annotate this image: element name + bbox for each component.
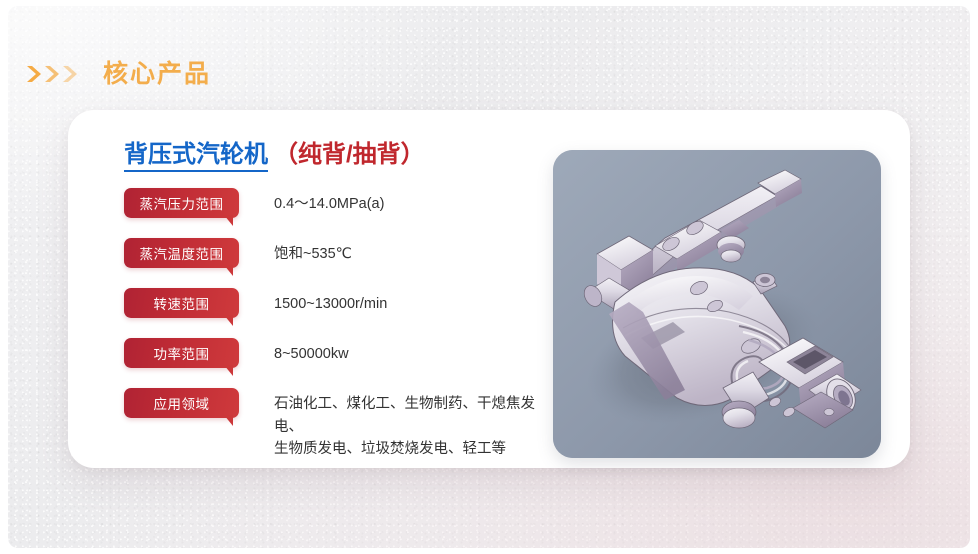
product-card: 背压式汽轮机（纯背/抽背） 蒸汽压力范围 0.4～14.0MPa(a) 蒸汽温度… (68, 110, 910, 468)
spec-value: 1500~13000r/min (274, 288, 387, 315)
section-header: 核心产品 (20, 52, 211, 96)
spec-value: 石油化工、煤化工、生物制药、干熄焦发电、 生物质发电、垃圾焚烧发电、轻工等 (274, 388, 554, 460)
spec-label: 蒸汽温度范围 (124, 238, 239, 268)
spec-label: 转速范围 (124, 288, 239, 318)
product-image-panel (553, 150, 881, 458)
spec-row: 蒸汽温度范围 饱和~535℃ (124, 238, 554, 288)
double-chevron-right-icon (26, 64, 79, 84)
spec-label: 功率范围 (124, 338, 239, 368)
product-title-secondary: （纯背/抽背） (274, 141, 425, 168)
spec-label-tag: 蒸汽温度范围 (124, 238, 239, 268)
spec-row: 应用领域 石油化工、煤化工、生物制药、干熄焦发电、 生物质发电、垃圾焚烧发电、轻… (124, 388, 554, 460)
spec-label-tag: 功率范围 (124, 338, 239, 368)
spec-value: 8~50000kw (274, 338, 349, 365)
product-details-column: 背压式汽轮机（纯背/抽背） 蒸汽压力范围 0.4～14.0MPa(a) 蒸汽温度… (124, 142, 554, 461)
spec-label: 应用领域 (124, 388, 239, 418)
spec-label-tag: 蒸汽压力范围 (124, 188, 239, 218)
spec-label-tag: 转速范围 (124, 288, 239, 318)
spec-label: 蒸汽压力范围 (124, 188, 239, 218)
product-title-primary: 背压式汽轮机 (124, 141, 268, 172)
spec-row: 功率范围 8~50000kw (124, 338, 554, 388)
steam-turbine-3d-render (553, 150, 881, 458)
slide-canvas: 核心产品 背压式汽轮机（纯背/抽背） 蒸汽压力范围 0.4～14.0MPa(a)… (8, 6, 970, 548)
product-title: 背压式汽轮机（纯背/抽背） (124, 142, 554, 168)
spec-value: 饱和~535℃ (274, 238, 352, 265)
spec-row: 蒸汽压力范围 0.4～14.0MPa(a) (124, 188, 554, 238)
spec-label-tag: 应用领域 (124, 388, 239, 418)
spec-row: 转速范围 1500~13000r/min (124, 288, 554, 338)
spec-value: 0.4～14.0MPa(a) (274, 188, 384, 215)
page-title: 核心产品 (103, 62, 211, 87)
